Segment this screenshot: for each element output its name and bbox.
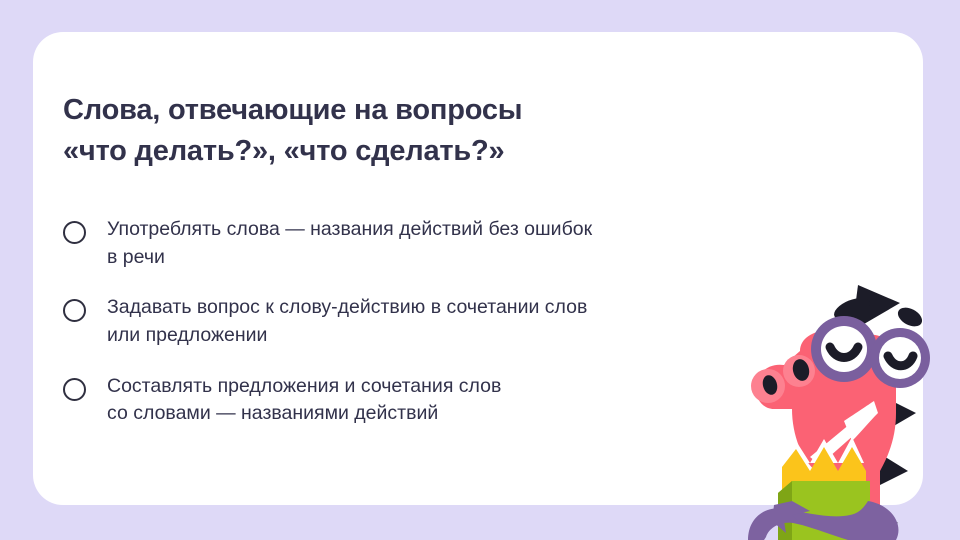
- content-card: Слова, отвечающие на вопросы «что делать…: [33, 32, 923, 505]
- purple-arms-icon: [748, 501, 898, 540]
- page-title: Слова, отвечающие на вопросы «что делать…: [63, 90, 763, 172]
- list-item[interactable]: Составлять предложения и сочетания слов …: [63, 372, 853, 428]
- empty-circle-icon[interactable]: [63, 378, 86, 401]
- slide-root: Слова, отвечающие на вопросы «что делать…: [0, 0, 960, 540]
- list-item[interactable]: Задавать вопрос к слову-действию в сочет…: [63, 293, 853, 349]
- objectives-list: Употреблять слова — названия действий бе…: [63, 215, 853, 450]
- list-item-label: Составлять предложения и сочетания слов …: [107, 372, 501, 428]
- list-item-label: Задавать вопрос к слову-действию в сочет…: [107, 293, 587, 349]
- empty-circle-icon[interactable]: [63, 221, 86, 244]
- empty-circle-icon[interactable]: [63, 299, 86, 322]
- list-item[interactable]: Употреблять слова — названия действий бе…: [63, 215, 853, 271]
- list-item-label: Употреблять слова — названия действий бе…: [107, 215, 592, 271]
